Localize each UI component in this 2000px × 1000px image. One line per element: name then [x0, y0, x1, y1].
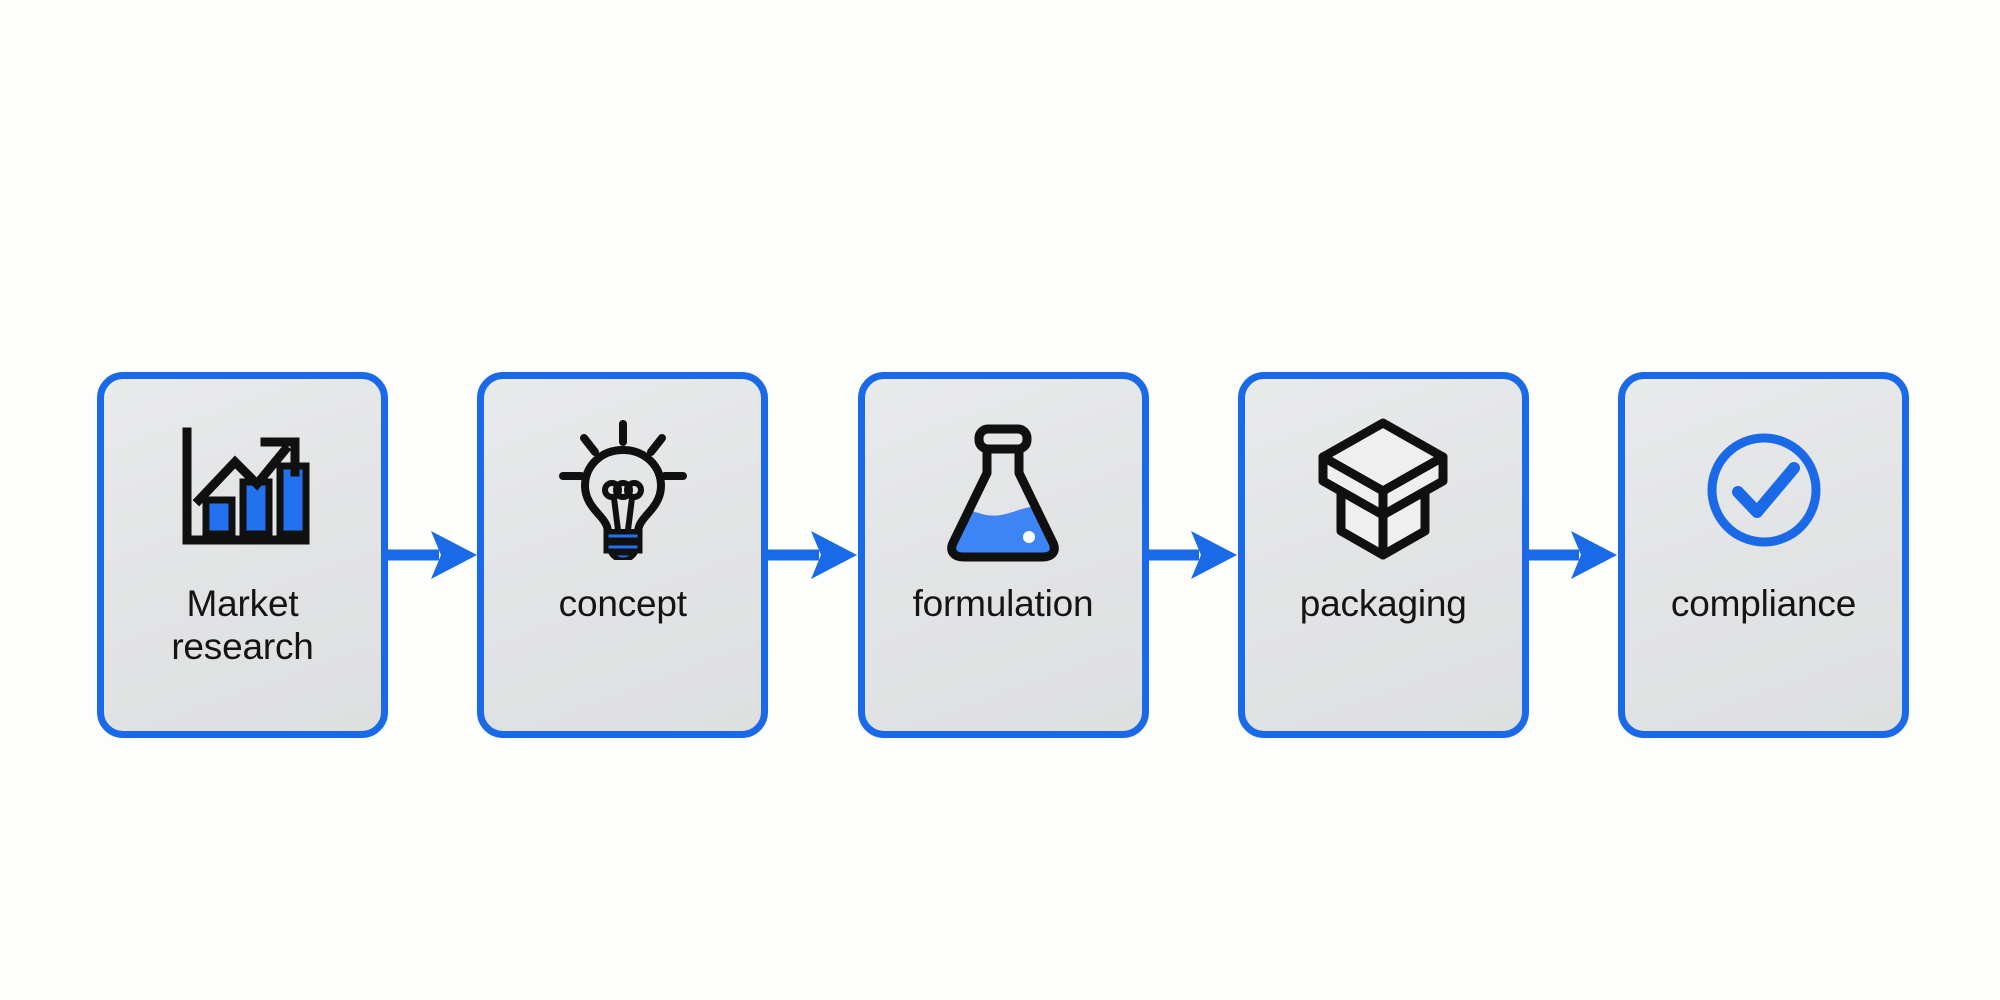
- erlenmeyer-flask-icon: [928, 415, 1078, 565]
- arrow-right-icon: [387, 527, 479, 583]
- connector-2: [768, 372, 857, 738]
- arrow-right-icon: [767, 527, 859, 583]
- step-label-packaging: packaging: [1256, 583, 1511, 626]
- lightbulb-idea-icon: [548, 415, 698, 565]
- connector-1: [388, 372, 477, 738]
- connector-4: [1529, 372, 1618, 738]
- step-card-formulation[interactable]: formulation: [858, 372, 1149, 738]
- arrow-right-icon: [1147, 527, 1239, 583]
- process-flow-row: Market research: [97, 372, 1909, 738]
- step-card-compliance[interactable]: compliance: [1618, 372, 1909, 738]
- arrow-right-icon: [1527, 527, 1619, 583]
- step-label-concept: concept: [495, 583, 750, 626]
- check-circle-icon: [1689, 415, 1839, 565]
- step-label-compliance: compliance: [1636, 583, 1891, 626]
- step-card-packaging[interactable]: packaging: [1238, 372, 1529, 738]
- connector-3: [1149, 372, 1238, 738]
- flowchart-canvas: Market research: [0, 0, 2000, 1000]
- step-label-formulation: formulation: [876, 583, 1131, 626]
- step-card-market-research[interactable]: Market research: [97, 372, 388, 738]
- step-label-market-research: Market research: [115, 583, 370, 669]
- bar-chart-growth-icon: [168, 415, 318, 565]
- package-box-icon: [1308, 415, 1458, 565]
- step-card-concept[interactable]: concept: [477, 372, 768, 738]
